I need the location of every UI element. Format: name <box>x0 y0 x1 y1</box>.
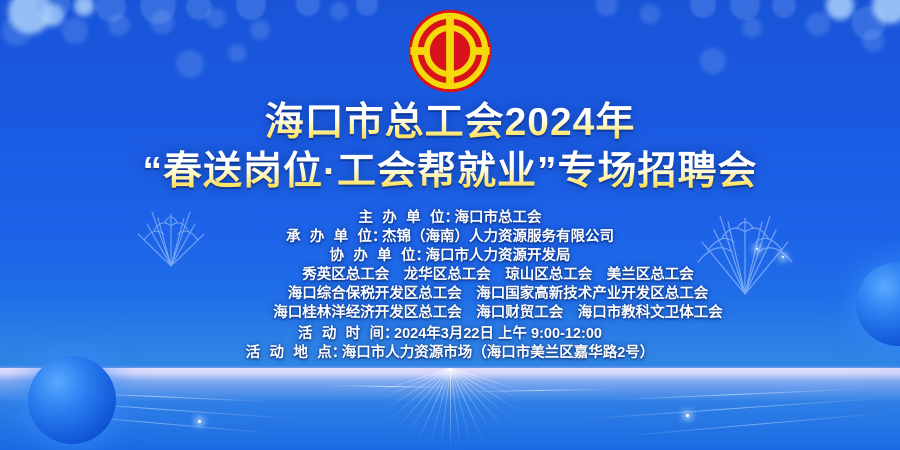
detail-label: 活动时间 <box>298 325 384 344</box>
detail-value: 杰锦（海南）人力资源服务有限公司 <box>382 228 614 247</box>
detail-label: 活动地点 <box>246 344 332 363</box>
sparkle-dot <box>686 414 689 417</box>
floor-ray <box>450 368 451 450</box>
floor-streak <box>620 412 889 437</box>
title-line-1: 海口市总工会2024年 <box>0 101 900 145</box>
detail-label: 主办单位 <box>359 209 445 228</box>
coorganizer-line: 秀英区总工会 龙华区总工会 琼山区总工会 美兰区总工会 <box>0 266 900 285</box>
union-emblem-logo <box>407 8 493 94</box>
detail-row-place: 活动地点 ： 海口市人力资源市场（海口市美兰区嘉华路2号） <box>0 344 900 363</box>
detail-colon: ： <box>416 247 426 266</box>
detail-row-organizer: 主办单位 ： 海口市总工会 <box>0 209 900 228</box>
coorganizer-text: 海口综合保税开发区总工会 海口国家高新技术产业开发区总工会 <box>288 285 709 304</box>
details-block: 主办单位 ： 海口市总工会 承办单位 ： 杰锦（海南）人力资源服务有限公司 协办… <box>0 209 900 363</box>
detail-colon: ： <box>384 325 394 344</box>
detail-value: 海口市人力资源开发局 <box>426 247 571 266</box>
coorganizer-text: 海口桂林洋经济开发区总工会 海口财贸工会 海口市教科文卫体工会 <box>273 304 723 323</box>
detail-colon: ： <box>445 209 455 228</box>
poster-canvas: 海口市总工会2024年 “春送岗位·工会帮就业”专场招聘会 主办单位 ： 海口市… <box>0 0 900 450</box>
detail-value: 海口市人力资源市场（海口市美兰区嘉华路2号） <box>342 344 655 363</box>
detail-value: 海口市总工会 <box>455 209 542 228</box>
coorganizer-text: 秀英区总工会 龙华区总工会 琼山区总工会 美兰区总工会 <box>302 266 694 285</box>
sparkle-dot <box>198 420 201 423</box>
detail-row-coorganizer: 协办单位 ： 海口市人力资源开发局 <box>0 247 900 266</box>
coorganizer-line: 海口综合保税开发区总工会 海口国家高新技术产业开发区总工会 <box>0 285 900 304</box>
detail-colon: ： <box>372 228 382 247</box>
detail-row-time: 活动时间 ： 2024年3月22日 上午 9:00-12:00 <box>0 325 900 344</box>
detail-label: 协办单位 <box>330 247 416 266</box>
coorganizer-line: 海口桂林洋经济开发区总工会 海口财贸工会 海口市教科文卫体工会 <box>0 304 900 323</box>
floor-streak <box>610 389 860 401</box>
detail-colon: ： <box>332 344 342 363</box>
detail-label: 承办单位 <box>286 228 372 247</box>
floor-ray <box>450 368 513 421</box>
perspective-floor <box>0 368 900 450</box>
decorative-sphere-left <box>28 356 116 444</box>
floor-streak <box>470 389 610 392</box>
title-line-2: “春送岗位·工会帮就业”专场招聘会 <box>0 150 900 194</box>
detail-value: 2024年3月22日 上午 9:00-12:00 <box>394 325 602 344</box>
detail-row-host: 承办单位 ： 杰锦（海南）人力资源服务有限公司 <box>0 228 900 247</box>
